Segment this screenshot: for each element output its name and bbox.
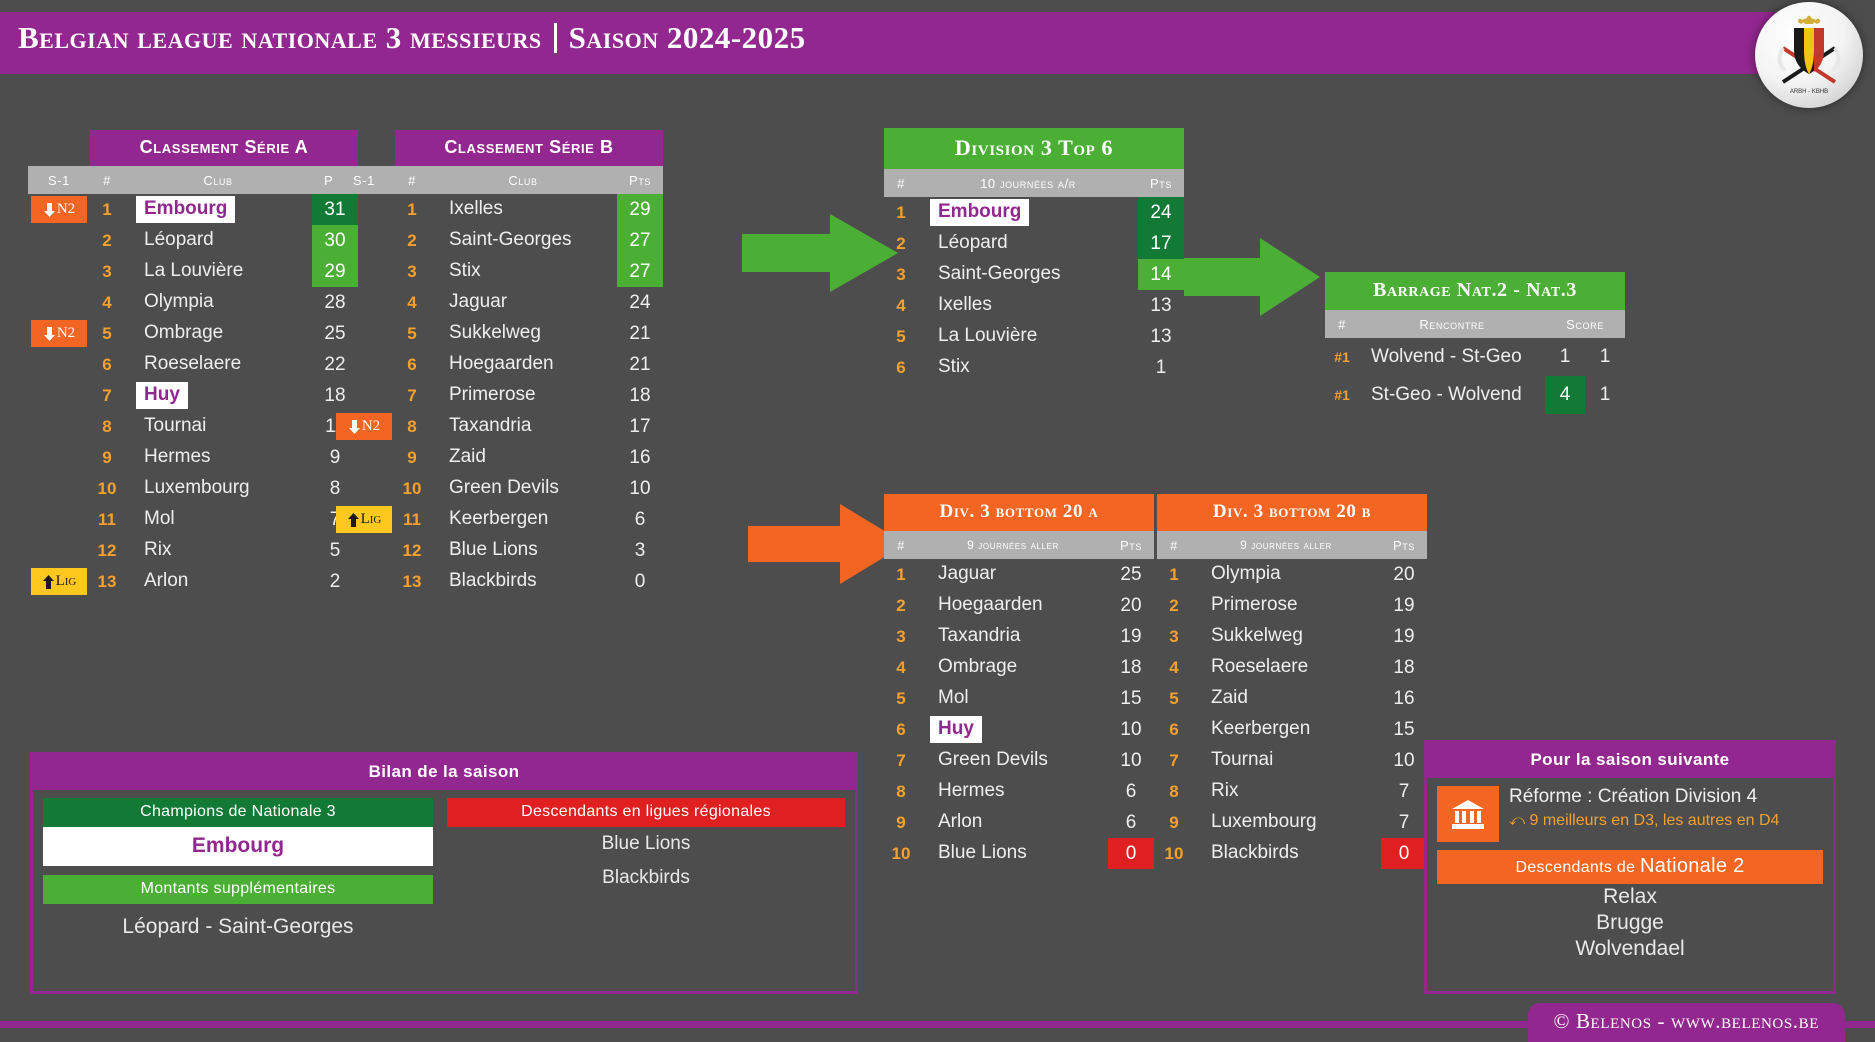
col-pts: Pts: [617, 173, 663, 188]
col-s1: S-1: [333, 173, 395, 188]
points-value: 0: [635, 571, 646, 592]
rank-cell: #1: [1325, 387, 1359, 403]
arrow-up-icon: [42, 575, 55, 589]
table-row[interactable]: 7Primerose18: [333, 380, 663, 411]
points-cell: 19: [1381, 595, 1427, 617]
points-value: 10: [1393, 750, 1414, 771]
badge-relegation[interactable]: N2: [336, 413, 392, 440]
table-row[interactable]: 5Sukkelweg21: [333, 318, 663, 349]
points-cell: 27: [617, 225, 663, 256]
club-name: Taxandria: [441, 413, 539, 440]
table-row[interactable]: 6Huy10: [884, 714, 1154, 745]
table-row[interactable]: N25Ombrage25: [28, 318, 358, 349]
club-cell: Jaguar: [429, 289, 617, 316]
rank-cell: 5: [395, 324, 429, 344]
points-cell: 0: [1108, 838, 1154, 869]
club-name: Ombrage: [136, 320, 231, 347]
table-classement-serie-a: Classement Série A S-1 # Club Pts N21Emb…: [28, 130, 358, 597]
club-name: Arlon: [930, 809, 990, 836]
rank-cell: 9: [884, 813, 918, 833]
table-row[interactable]: 3Taxandria19: [884, 621, 1154, 652]
reform-line-2: 9 meilleurs en D3, les autres en D4: [1530, 812, 1780, 829]
club-name: Saint-Georges: [441, 227, 580, 254]
rank-cell: 4: [1157, 658, 1191, 678]
points-value: 20: [1393, 564, 1414, 585]
score-home: 4: [1545, 376, 1585, 414]
table-row[interactable]: 5Mol15: [884, 683, 1154, 714]
table-row[interactable]: 13Blackbirds0: [333, 566, 663, 597]
points-value: 19: [1120, 626, 1141, 647]
club-cell: Sukkelweg: [1191, 623, 1381, 650]
s1-badge-cell: N2: [28, 196, 90, 223]
club-cell: Primerose: [1191, 592, 1381, 619]
s1-badge-cell: Lig: [28, 568, 90, 595]
table-row[interactable]: #1St-Geo - Wolvend41: [1325, 376, 1625, 414]
club-name: Blackbirds: [441, 568, 545, 595]
rank-cell: 8: [90, 417, 124, 437]
rank-cell: 9: [1157, 813, 1191, 833]
table-row[interactable]: 4Roeselaere18: [1157, 652, 1427, 683]
list-item: Brugge: [1427, 910, 1833, 936]
rank-cell: 6: [1157, 720, 1191, 740]
club-cell: Hoegaarden: [429, 351, 617, 378]
club-cell: Mol: [124, 506, 312, 533]
descendants-regionales-list: Blue LionsBlackbirds: [447, 827, 845, 895]
list-item: Blue Lions: [447, 827, 845, 861]
club-cell: Olympia: [124, 289, 312, 316]
badge-label: N2: [57, 201, 75, 218]
points-cell: 6: [1108, 781, 1154, 803]
club-name: Léopard: [136, 227, 222, 254]
rank-cell: 2: [1157, 596, 1191, 616]
table-row[interactable]: 1Embourg24: [884, 197, 1184, 228]
table-row[interactable]: 2Hoegaarden20: [884, 590, 1154, 621]
table-row[interactable]: 3Stix27: [333, 256, 663, 287]
club-name: Jaguar: [930, 561, 1004, 588]
rank-cell: 8: [884, 782, 918, 802]
table-div3-bottom20b: Div. 3 bottom 20 b # 9 journées aller Pt…: [1157, 494, 1427, 869]
points-value: 29: [617, 194, 663, 225]
col-pts: Pts: [1381, 538, 1427, 553]
score-away: 1: [1600, 346, 1611, 367]
points-cell: 15: [1108, 688, 1154, 710]
club-name: Huy: [930, 716, 982, 743]
points-cell: 29: [617, 194, 663, 225]
rank-cell: 4: [884, 658, 918, 678]
table-row[interactable]: 5La Louvière13: [884, 321, 1184, 352]
points-value: 18: [629, 385, 650, 406]
club-name: Jaguar: [441, 289, 515, 316]
table-row[interactable]: 1Jaguar25: [884, 559, 1154, 590]
table-row[interactable]: 3Sukkelweg19: [1157, 621, 1427, 652]
rank-cell: 12: [395, 541, 429, 561]
club-name: Primerose: [441, 382, 544, 409]
club-cell: Ixelles: [429, 196, 617, 223]
table-row[interactable]: 6Roeselaere22: [28, 349, 358, 380]
rank-cell: 1: [90, 200, 124, 220]
club-cell: Hoegaarden: [918, 592, 1108, 619]
page-title: Belgian league nationale 3 messieursSais…: [18, 20, 806, 56]
rank-cell: 6: [395, 355, 429, 375]
badge-label: Lig: [56, 573, 77, 590]
table-row[interactable]: 7Tournai10: [1157, 745, 1427, 776]
points-value: 10: [629, 478, 650, 499]
club-name: Mol: [136, 506, 183, 533]
table-row[interactable]: 6Keerbergen15: [1157, 714, 1427, 745]
col-score: Score: [1545, 317, 1625, 332]
bottom20b-rows: 1Olympia202Primerose193Sukkelweg194Roese…: [1157, 559, 1427, 869]
points-value: 27: [617, 256, 663, 287]
table-row[interactable]: 12Blue Lions3: [333, 535, 663, 566]
club-cell: Blue Lions: [429, 537, 617, 564]
points-value: 21: [629, 323, 650, 344]
rank-cell: 1: [884, 203, 918, 223]
bilan-title: Bilan de la saison: [33, 755, 855, 790]
rank-cell: 2: [884, 234, 918, 254]
bottom20b-header-row: # 9 journées aller Pts: [1157, 531, 1427, 559]
points-value: 7: [1399, 781, 1410, 802]
col-rank: #: [395, 173, 429, 188]
club-name: Tournai: [136, 413, 214, 440]
club-name: Hoegaarden: [930, 592, 1051, 619]
club-name: Arlon: [136, 568, 196, 595]
belgian-hockey-ball-logo: ARBH - KBHB: [1755, 2, 1863, 108]
club-cell: Huy: [124, 382, 312, 409]
club-cell: Ixelles: [918, 292, 1138, 319]
rank-cell: 7: [1157, 751, 1191, 771]
club-name: La Louvière: [930, 323, 1045, 350]
club-name: Keerbergen: [441, 506, 556, 533]
rank-cell: 6: [884, 720, 918, 740]
table-row[interactable]: 9Zaid16: [333, 442, 663, 473]
club-cell: Rix: [124, 537, 312, 564]
rank-cell: 5: [884, 689, 918, 709]
table-row[interactable]: 2Saint-Georges27: [333, 225, 663, 256]
points-cell: 16: [1381, 688, 1427, 710]
rank-cell: 8: [1157, 782, 1191, 802]
points-cell: 24: [1138, 197, 1184, 228]
table-row[interactable]: 9Luxembourg7: [1157, 807, 1427, 838]
club-name: Sukkelweg: [441, 320, 549, 347]
badge-promotion[interactable]: Lig: [31, 568, 87, 595]
points-cell: 21: [617, 354, 663, 376]
descendants-nat2-label: Descendants de Nationale 2: [1437, 850, 1823, 884]
points-cell: 27: [617, 256, 663, 287]
col-rank: #: [1157, 538, 1191, 553]
table-row[interactable]: 5Zaid16: [1157, 683, 1427, 714]
club-cell: Hermes: [124, 444, 312, 471]
arrow-to-barrage-icon: [1184, 232, 1324, 322]
rank-cell: 1: [1157, 565, 1191, 585]
rank-cell: 6: [884, 358, 918, 378]
col-journees: 9 journées aller: [918, 538, 1108, 552]
rank-cell: 2: [884, 596, 918, 616]
match-cell: St-Geo - Wolvend: [1359, 384, 1545, 406]
serie-a-title: Classement Série A: [90, 130, 358, 166]
table-row[interactable]: 10Blue Lions0: [884, 838, 1154, 869]
club-cell: Hermes: [918, 778, 1108, 805]
points-cell: 19: [1108, 626, 1154, 648]
rank-cell: 9: [395, 448, 429, 468]
points-value: 25: [1120, 564, 1141, 585]
table-row[interactable]: 12Rix5: [28, 535, 358, 566]
rank-cell: 4: [884, 296, 918, 316]
s1-badge-cell: N2: [28, 320, 90, 347]
loop-arrow-icon: ⤺: [1509, 812, 1525, 829]
club-cell: Tournai: [124, 413, 312, 440]
club-name: Embourg: [930, 199, 1029, 226]
club-name: Tournai: [1203, 747, 1281, 774]
club-name: Ombrage: [930, 654, 1025, 681]
page-title-main: Belgian league nationale 3 messieurs: [18, 20, 542, 55]
table-row[interactable]: 7Huy18: [28, 380, 358, 411]
table-row[interactable]: 8Tournai11: [28, 411, 358, 442]
table-row[interactable]: 10Luxembourg8: [28, 473, 358, 504]
page-title-season: Saison 2024-2025: [569, 20, 806, 55]
points-value: 18: [1393, 657, 1414, 678]
club-cell: Zaid: [429, 444, 617, 471]
montants-label: Montants supplémentaires: [43, 875, 433, 904]
points-cell: 24: [617, 292, 663, 314]
bottom20a-rows: 1Jaguar252Hoegaarden203Taxandria194Ombra…: [884, 559, 1154, 869]
club-cell: Stix: [918, 354, 1138, 381]
table-row[interactable]: 2Primerose19: [1157, 590, 1427, 621]
rank-cell: 5: [884, 327, 918, 347]
col-rencontre: Rencontre: [1359, 317, 1545, 332]
rank-cell: 6: [90, 355, 124, 375]
points-value: 14: [1138, 259, 1184, 290]
table-barrage-nat2-nat3: Barrage Nat.2 - Nat.3 # Rencontre Score …: [1325, 272, 1625, 414]
club-cell: Léopard: [918, 230, 1138, 257]
rank-cell: 5: [90, 324, 124, 344]
club-cell: Rix: [1191, 778, 1381, 805]
club-cell: Olympia: [1191, 561, 1381, 588]
rank-cell: 2: [90, 231, 124, 251]
club-cell: Blackbirds: [1191, 840, 1381, 867]
reform-line-2-wrap: ⤺ 9 meilleurs en D3, les autres en D4: [1509, 812, 1823, 830]
rank-cell: 3: [884, 627, 918, 647]
club-cell: Embourg: [918, 199, 1138, 226]
col-club: Club: [124, 173, 312, 188]
points-value: 6: [1126, 812, 1137, 833]
rank-cell: 7: [395, 386, 429, 406]
arrow-down-icon: [43, 327, 56, 341]
table-row[interactable]: 4Ixelles13: [884, 290, 1184, 321]
arrow-up-icon: [347, 513, 360, 527]
bilan-right-column: Descendants en ligues régionales Blue Li…: [447, 798, 845, 945]
points-value: 7: [1399, 812, 1410, 833]
club-cell: Luxembourg: [124, 475, 312, 502]
list-item: Blackbirds: [447, 861, 845, 895]
club-name: Primerose: [1203, 592, 1306, 619]
points-cell: 6: [617, 509, 663, 531]
club-cell: Roeselaere: [1191, 654, 1381, 681]
table-row[interactable]: Lig13Arlon2: [28, 566, 358, 597]
club-name: Roeselaere: [136, 351, 249, 378]
table-row[interactable]: 11Mol7: [28, 504, 358, 535]
club-name: Ixelles: [930, 292, 1000, 319]
club-name: Zaid: [1203, 685, 1256, 712]
points-cell: 7: [1381, 781, 1427, 803]
col-journees: 9 journées aller: [1191, 538, 1381, 552]
club-cell: Stix: [429, 258, 617, 285]
col-pts: Pts: [1108, 538, 1154, 553]
table-row[interactable]: 6Hoegaarden21: [333, 349, 663, 380]
club-cell: Embourg: [124, 196, 312, 223]
club-name: Blackbirds: [1203, 840, 1307, 867]
table-classement-serie-b: Classement Série B S-1 # Club Pts 1Ixell…: [333, 130, 663, 597]
club-name: Olympia: [136, 289, 222, 316]
badge-relegation[interactable]: N2: [31, 320, 87, 347]
table-row[interactable]: 2Léopard17: [884, 228, 1184, 259]
points-value: 27: [617, 225, 663, 256]
points-cell: 17: [617, 416, 663, 438]
table-row[interactable]: 3La Louvière29: [28, 256, 358, 287]
title-separator: [554, 23, 557, 53]
table-div3-bottom20a: Div. 3 bottom 20 a # 9 journées aller Pt…: [884, 494, 1154, 869]
col-pts: Pts: [1138, 176, 1184, 191]
barrage-rows: #1Wolvend - St-Geo11#1St-Geo - Wolvend41: [1325, 338, 1625, 414]
points-cell: 10: [617, 478, 663, 500]
club-cell: Ombrage: [124, 320, 312, 347]
club-cell: Taxandria: [918, 623, 1108, 650]
arrow-down-icon: [348, 420, 361, 434]
descendants-regionales-label: Descendants en ligues régionales: [447, 798, 845, 827]
points-value: 17: [629, 416, 650, 437]
table-row[interactable]: 3Saint-Georges14: [884, 259, 1184, 290]
list-item: Relax: [1427, 884, 1833, 910]
club-name: Stix: [441, 258, 489, 285]
club-name: Embourg: [136, 196, 235, 223]
badge-relegation[interactable]: N2: [31, 196, 87, 223]
points-value: 24: [1138, 197, 1184, 228]
col-club: Club: [429, 173, 617, 188]
points-value: 3: [635, 540, 646, 561]
rank-cell: 12: [90, 541, 124, 561]
champions-label: Champions de Nationale 3: [43, 798, 433, 827]
club-name: Huy: [136, 382, 188, 409]
top6-header-row: # 10 journées a/r Pts: [884, 169, 1184, 197]
club-name: Blue Lions: [441, 537, 546, 564]
club-cell: Keerbergen: [429, 506, 617, 533]
table-row[interactable]: 2Léopard30: [28, 225, 358, 256]
club-name: Sukkelweg: [1203, 623, 1311, 650]
col-s1: S-1: [28, 173, 90, 188]
rank-cell: 5: [1157, 689, 1191, 709]
table-row[interactable]: 10Green Devils10: [333, 473, 663, 504]
table-row[interactable]: #1Wolvend - St-Geo11: [1325, 338, 1625, 376]
club-cell: Sukkelweg: [429, 320, 617, 347]
points-cell: 18: [617, 385, 663, 407]
rank-cell: 1: [884, 565, 918, 585]
table-row[interactable]: 1Olympia20: [1157, 559, 1427, 590]
rank-cell: #1: [1325, 349, 1359, 365]
table-row[interactable]: 6Stix1: [884, 352, 1184, 383]
score-home-cell: 1: [1545, 346, 1585, 368]
points-cell: 15: [1381, 719, 1427, 741]
table-row[interactable]: 7Green Devils10: [884, 745, 1154, 776]
points-cell: 18: [1108, 657, 1154, 679]
club-name: Stix: [930, 354, 978, 381]
table-row[interactable]: 4Olympia28: [28, 287, 358, 318]
col-rank: #: [1325, 317, 1359, 332]
bottom20a-header-row: # 9 journées aller Pts: [884, 531, 1154, 559]
club-cell: Ombrage: [918, 654, 1108, 681]
points-cell: 10: [1108, 719, 1154, 741]
club-name: Keerbergen: [1203, 716, 1318, 743]
club-cell: Luxembourg: [1191, 809, 1381, 836]
points-cell: 16: [617, 447, 663, 469]
badge-label: N2: [362, 418, 380, 435]
table-row[interactable]: 8Hermes6: [884, 776, 1154, 807]
points-cell: 18: [1381, 657, 1427, 679]
club-cell: Arlon: [918, 809, 1108, 836]
points-cell: 20: [1108, 595, 1154, 617]
rank-cell: 3: [1157, 627, 1191, 647]
club-name: Green Devils: [930, 747, 1056, 774]
list-item: Wolvendael: [1427, 936, 1833, 962]
points-cell: 3: [617, 540, 663, 562]
descendants-nat2-label-pre: Descendants de: [1515, 859, 1640, 876]
club-name: Léopard: [930, 230, 1016, 257]
panel-bilan-saison: Bilan de la saison Champions de National…: [30, 752, 858, 994]
club-cell: Jaguar: [918, 561, 1108, 588]
points-value: 24: [629, 292, 650, 313]
points-value: 15: [1120, 688, 1141, 709]
points-cell: 25: [1108, 564, 1154, 586]
club-cell: La Louvière: [918, 323, 1138, 350]
rank-cell: 4: [90, 293, 124, 313]
table-row[interactable]: 4Jaguar24: [333, 287, 663, 318]
table-row[interactable]: 9Hermes9: [28, 442, 358, 473]
table-row[interactable]: 4Ombrage18: [884, 652, 1154, 683]
table-row[interactable]: 9Arlon6: [884, 807, 1154, 838]
points-value: 0: [1108, 838, 1154, 869]
serie-b-rows: 1Ixelles292Saint-Georges273Stix274Jaguar…: [333, 194, 663, 597]
club-name: Hermes: [136, 444, 219, 471]
rank-cell: 13: [90, 572, 124, 592]
club-name: Hermes: [930, 778, 1013, 805]
rank-cell: 7: [884, 751, 918, 771]
montants-teams: Léopard - Saint-Georges: [43, 904, 433, 945]
rank-cell: 2: [395, 231, 429, 251]
table-row[interactable]: 1Ixelles29: [333, 194, 663, 225]
club-cell: Green Devils: [918, 747, 1108, 774]
arrow-to-top6-icon: [742, 208, 902, 298]
rank-cell: 10: [395, 479, 429, 499]
badge-promotion[interactable]: Lig: [336, 506, 392, 533]
rank-cell: 3: [395, 262, 429, 282]
table-row[interactable]: Lig11Keerbergen6: [333, 504, 663, 535]
points-cell: 21: [617, 323, 663, 345]
table-row[interactable]: N21Embourg31: [28, 194, 358, 225]
club-cell: Taxandria: [429, 413, 617, 440]
table-row[interactable]: 10Blackbirds0: [1157, 838, 1427, 869]
badge-label: Lig: [361, 511, 382, 528]
table-row[interactable]: N28Taxandria17: [333, 411, 663, 442]
club-name: Hoegaarden: [441, 351, 562, 378]
club-name: Saint-Georges: [930, 261, 1069, 288]
club-name: Luxembourg: [1203, 809, 1325, 836]
table-row[interactable]: 8Rix7: [1157, 776, 1427, 807]
descendants-nat2-label-strong: Nationale 2: [1640, 855, 1744, 877]
score-home-cell: 4: [1545, 376, 1585, 414]
s1-badge-cell: N2: [333, 413, 395, 440]
points-cell: 13: [1138, 295, 1184, 317]
club-cell: Arlon: [124, 568, 312, 595]
col-rank: #: [90, 173, 124, 188]
rank-cell: 3: [884, 265, 918, 285]
